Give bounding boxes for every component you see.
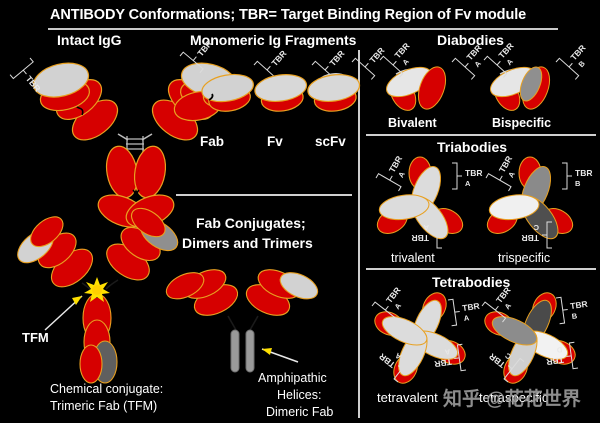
label-fab: Fab [200,134,224,149]
label-bivalent: Bivalent [388,116,437,130]
illustration-triabody-trivalent: TBR A TBR A TBR A trivalent [365,152,482,265]
label-trivalent: trivalent [391,251,435,265]
tbr-subscript: A [401,57,412,67]
tbr-subscript: C [533,223,539,232]
illustration-triabody-trispecific: TBR B TBR A TBR C trispecific [475,152,592,265]
amphipathic-helix-right [246,330,254,372]
tbr-text: TBR [392,41,411,61]
tbr-subscript: A [503,301,514,311]
illustration-scfv: TBR scFv [306,39,392,149]
caption-tfm-line2: Trimeric Fab (TFM) [50,400,157,413]
tbr-text: TBR [487,351,507,370]
label-fv: Fv [267,134,283,149]
tbr-subscript: A [423,223,429,232]
tbr-subscript: B [571,311,578,321]
tbr-text: TBR [496,41,515,61]
caption-tfm-line1: Chemical conjugate: [50,383,163,396]
tbr-subscript: B [577,59,588,69]
tbr-text: TBR [570,299,589,311]
tbr-subscript: A [506,170,517,180]
tbr-label-scfv: TBR [352,39,392,79]
tbr-text: TBR [464,43,483,63]
tbr-label-tetraspecific-1: TBR B [556,294,590,324]
tbr-text: TBR [377,351,397,370]
tbr-text: TBR [575,168,592,178]
tbr-subscript: A [463,313,470,323]
label-tfm: TFM [22,330,49,345]
tbr-text: TBR [522,233,539,243]
tbr-label-trivalent-3: TBR A [412,222,442,248]
illustration-intact-igg: TBR TBR [10,33,240,234]
tbr-subscript: A [505,57,516,67]
tbr-text: TBR [497,154,514,174]
tbr-text: TBR [384,285,403,305]
heading-fab-conjugates-line1: Fab Conjugates; [196,216,306,231]
label-bispecific: Bispecific [492,116,551,130]
tbr-subscript: B [575,179,581,188]
tbr-text: TBR [434,357,453,369]
illustration-trimeric-fab-tfm: TFM [10,203,185,383]
tbr-label-trispecific-1: TBR B [562,163,592,189]
tbr-text: TBR [465,168,482,178]
tbr-text: TBR [494,285,513,305]
tbr-label-tetravalent-1: TBR A [448,296,482,326]
tbr-label-trispecific-3: TBR C [522,222,552,248]
illustration-diabody-bispecific: TBR A TBR B Bispecific [484,37,596,130]
antibody-illustrations: TBR TBR TBR Fab [0,0,600,423]
illustration-diabody-bivalent: TBR A TBR A Bivalent [380,37,492,130]
tbr-label-trivalent-2: TBR A [376,152,414,191]
tbr-text: TBR [568,43,587,63]
tbr-text: TBR [327,48,346,68]
caption-dimeric-line2: Helices: [277,389,321,402]
illustration-dimeric-fab [162,257,321,372]
heading-fab-conjugates-line2: Dimers and Trimers [182,236,313,251]
tbr-text: TBR [412,233,429,243]
label-scfv: scFv [315,134,346,149]
tbr-text: TBR [195,38,214,58]
tbr-subscript: A [465,179,471,188]
label-trispecific: trispecific [498,251,550,265]
tbr-label-bispecific-2: TBR B [556,39,596,79]
caption-dimeric-line1: Amphipathic [258,372,327,385]
tbr-text: TBR [462,301,481,313]
tbr-subscript: A [396,170,407,180]
caption-dimeric-line3: Dimeric Fab [266,406,333,419]
watermark: 知乎 @花花世界 [443,384,581,411]
amphipathic-helix-left [231,330,239,372]
tbr-subscript: A [393,301,404,311]
tbr-label-bivalent-2: TBR A [452,39,492,79]
tbr-text: TBR [269,48,288,68]
tbr-subscript: A [473,59,484,69]
tbr-text: TBR [367,45,386,65]
label-tetravalent: tetravalent [377,390,438,405]
tbr-text: TBR [387,154,404,174]
tbr-label-trivalent-1: TBR A [452,163,482,189]
tbr-label-trispecific-2: TBR A [486,152,524,191]
diagram-canvas: ANTIBODY Conformations; TBR= Target Bind… [0,0,600,423]
